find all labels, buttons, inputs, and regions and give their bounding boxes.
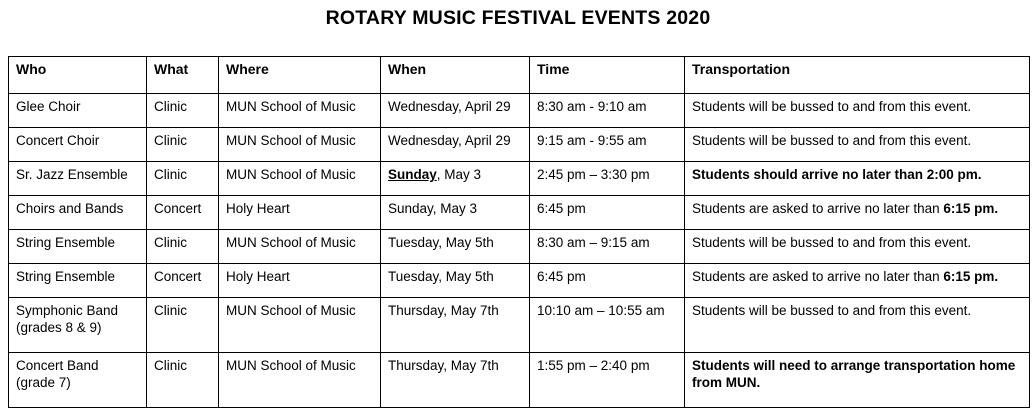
cell-transportation: Students will need to arrange transporta… [685, 353, 1030, 408]
cell-where: MUN School of Music [219, 162, 381, 196]
cell-where: MUN School of Music [219, 298, 381, 353]
cell-where: MUN School of Music [219, 230, 381, 264]
transportation-plain: Students will be bussed to and from this… [692, 133, 971, 148]
cell-when-emphasis: Sunday [388, 167, 437, 182]
transportation-plain: Students will be bussed to and from this… [692, 235, 971, 250]
column-header-transportation: Transportation [685, 57, 1030, 94]
cell-when-text: Sunday, May 3 [388, 201, 477, 216]
document-page: ROTARY MUSIC FESTIVAL EVENTS 2020 Who Wh… [0, 0, 1036, 410]
cell-time: 10:10 am – 10:55 am [530, 298, 685, 353]
cell-when-text: Wednesday, April 29 [388, 133, 511, 148]
cell-what: Clinic [147, 230, 219, 264]
cell-when-text: Thursday, May 7th [388, 303, 499, 318]
transportation-bold: Students will need to arrange transporta… [692, 358, 1015, 390]
transportation-bold: 6:15 pm. [943, 269, 998, 284]
cell-time: 2:45 pm – 3:30 pm [530, 162, 685, 196]
transportation-plain: Students are asked to arrive no later th… [692, 269, 943, 284]
column-header-what: What [147, 57, 219, 94]
cell-time: 1:55 pm – 2:40 pm [530, 353, 685, 408]
cell-when-text: Thursday, May 7th [388, 358, 499, 373]
cell-what: Concert [147, 264, 219, 298]
cell-who: Concert Band (grade 7) [9, 353, 147, 408]
column-header-who: Who [9, 57, 147, 94]
page-title: ROTARY MUSIC FESTIVAL EVENTS 2020 [0, 7, 1036, 30]
table-body: Glee Choir Clinic MUN School of Music We… [9, 94, 1030, 408]
cell-when: Tuesday, May 5th [381, 264, 530, 298]
cell-when: Thursday, May 7th [381, 298, 530, 353]
table-row: Concert Band (grade 7) Clinic MUN School… [9, 353, 1030, 408]
table-row: Symphonic Band (grades 8 & 9) Clinic MUN… [9, 298, 1030, 353]
cell-who: Sr. Jazz Ensemble [9, 162, 147, 196]
table-row: Concert Choir Clinic MUN School of Music… [9, 128, 1030, 162]
table-row: String Ensemble Clinic MUN School of Mus… [9, 230, 1030, 264]
cell-when: Wednesday, April 29 [381, 94, 530, 128]
cell-what: Clinic [147, 94, 219, 128]
cell-who: Concert Choir [9, 128, 147, 162]
cell-time: 9:15 am - 9:55 am [530, 128, 685, 162]
transportation-plain: Students will be bussed to and from this… [692, 99, 971, 114]
cell-transportation: Students are asked to arrive no later th… [685, 196, 1030, 230]
table-row: Glee Choir Clinic MUN School of Music We… [9, 94, 1030, 128]
cell-what: Clinic [147, 162, 219, 196]
transportation-bold: 6:15 pm. [943, 201, 998, 216]
cell-where: MUN School of Music [219, 128, 381, 162]
cell-when: Wednesday, April 29 [381, 128, 530, 162]
cell-transportation: Students will be bussed to and from this… [685, 230, 1030, 264]
cell-what: Concert [147, 196, 219, 230]
cell-who: Glee Choir [9, 94, 147, 128]
table-header-row: Who What Where When Time Transportation [9, 57, 1030, 94]
cell-time: 6:45 pm [530, 264, 685, 298]
transportation-plain: Students will be bussed to and from this… [692, 303, 971, 318]
cell-transportation: Students will be bussed to and from this… [685, 94, 1030, 128]
cell-when: Sunday, May 3 [381, 196, 530, 230]
events-table: Who What Where When Time Transportation … [8, 56, 1030, 408]
cell-who: String Ensemble [9, 230, 147, 264]
cell-time: 8:30 am - 9:10 am [530, 94, 685, 128]
cell-who: Symphonic Band (grades 8 & 9) [9, 298, 147, 353]
cell-where: MUN School of Music [219, 353, 381, 408]
column-header-where: Where [219, 57, 381, 94]
cell-who: Choirs and Bands [9, 196, 147, 230]
cell-who: String Ensemble [9, 264, 147, 298]
cell-where: Holy Heart [219, 196, 381, 230]
cell-when: Sunday, May 3 [381, 162, 530, 196]
cell-when-text: Wednesday, April 29 [388, 99, 511, 114]
cell-transportation: Students should arrive no later than 2:0… [685, 162, 1030, 196]
column-header-when: When [381, 57, 530, 94]
table-row: Sr. Jazz Ensemble Clinic MUN School of M… [9, 162, 1030, 196]
cell-where: MUN School of Music [219, 94, 381, 128]
table-row: Choirs and Bands Concert Holy Heart Sund… [9, 196, 1030, 230]
cell-time: 6:45 pm [530, 196, 685, 230]
events-table-container: Who What Where When Time Transportation … [8, 56, 1029, 408]
cell-what: Clinic [147, 128, 219, 162]
cell-when-text: , May 3 [437, 167, 481, 182]
table-row: String Ensemble Concert Holy Heart Tuesd… [9, 264, 1030, 298]
cell-what: Clinic [147, 353, 219, 408]
cell-time: 8:30 am – 9:15 am [530, 230, 685, 264]
column-header-time: Time [530, 57, 685, 94]
cell-when: Thursday, May 7th [381, 353, 530, 408]
cell-what: Clinic [147, 298, 219, 353]
cell-when-text: Tuesday, May 5th [388, 269, 494, 284]
cell-transportation: Students are asked to arrive no later th… [685, 264, 1030, 298]
transportation-bold: Students should arrive no later than 2:0… [692, 167, 982, 182]
cell-when-text: Tuesday, May 5th [388, 235, 494, 250]
cell-when: Tuesday, May 5th [381, 230, 530, 264]
cell-transportation: Students will be bussed to and from this… [685, 298, 1030, 353]
cell-where: Holy Heart [219, 264, 381, 298]
table-header: Who What Where When Time Transportation [9, 57, 1030, 94]
transportation-plain: Students are asked to arrive no later th… [692, 201, 943, 216]
cell-transportation: Students will be bussed to and from this… [685, 128, 1030, 162]
